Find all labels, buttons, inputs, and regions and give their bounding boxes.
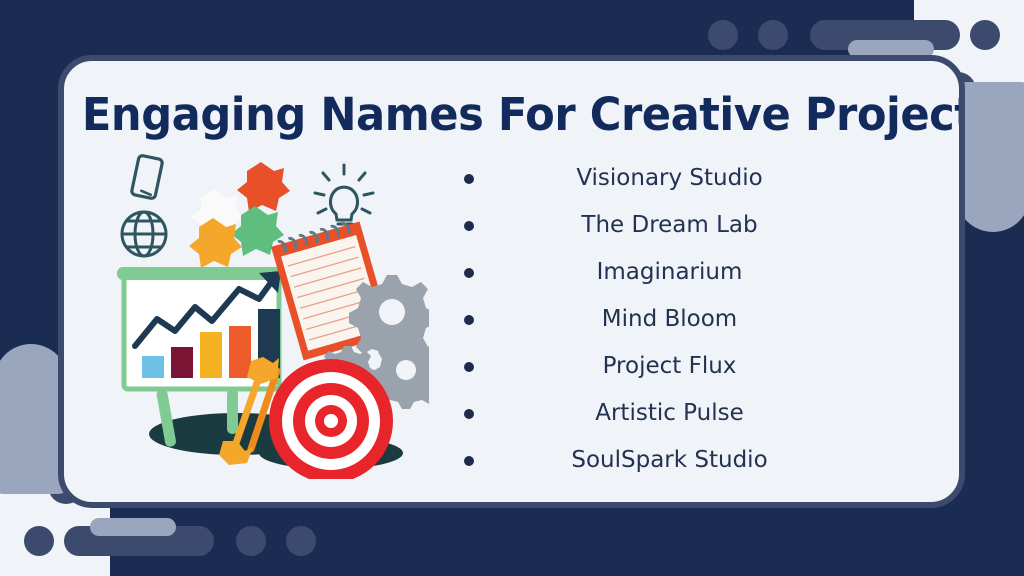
list-item[interactable]: The Dream Lab bbox=[464, 202, 935, 249]
decoration-tall-light-right bbox=[956, 82, 1024, 232]
puzzle-blob-yellow bbox=[189, 218, 242, 268]
smartphone-speaker bbox=[141, 191, 151, 195]
list-item[interactable]: Artistic Pulse bbox=[464, 390, 935, 437]
bullet-icon bbox=[464, 409, 474, 419]
list-item[interactable]: Visionary Studio bbox=[464, 155, 935, 202]
decoration-pill-light-bottom-left bbox=[90, 518, 176, 536]
list-item-label: Mind Bloom bbox=[602, 306, 737, 332]
globe-icon bbox=[122, 212, 166, 256]
target-bullseye-icon bbox=[269, 359, 393, 479]
decoration-dot-bottom-left-3 bbox=[286, 526, 316, 556]
decoration-dot-bottom-left-2 bbox=[236, 526, 266, 556]
card-body: Visionary Studio The Dream Lab Imaginari… bbox=[64, 141, 959, 508]
gear-icon-large bbox=[349, 275, 429, 361]
list-item[interactable]: SoulSpark Studio bbox=[464, 437, 935, 484]
bullet-icon bbox=[464, 315, 474, 325]
creative-project-illustration bbox=[99, 149, 429, 479]
page-title: Engaging Names For Creative Projects bbox=[82, 61, 941, 141]
decoration-dot-top-right-3 bbox=[708, 20, 738, 50]
list-item[interactable]: Project Flux bbox=[464, 343, 935, 390]
list-item-label: SoulSpark Studio bbox=[571, 447, 767, 473]
decoration-dot-top-right-1 bbox=[970, 20, 1000, 50]
bullet-icon bbox=[464, 221, 474, 231]
slide-canvas: Engaging Names For Creative Projects bbox=[0, 0, 1024, 576]
names-list-container: Visionary Studio The Dream Lab Imaginari… bbox=[464, 141, 959, 484]
lightbulb-icon bbox=[315, 165, 373, 229]
list-item-label: Visionary Studio bbox=[576, 165, 762, 191]
illustration-container bbox=[64, 141, 464, 479]
decoration-dot-bottom-left-1 bbox=[24, 526, 54, 556]
decoration-dot-top-right-2 bbox=[758, 20, 788, 50]
puzzle-blob-red bbox=[237, 162, 290, 212]
list-item[interactable]: Imaginarium bbox=[464, 249, 935, 296]
bullet-icon bbox=[464, 456, 474, 466]
list-item-label: Imaginarium bbox=[597, 259, 743, 285]
list-item-label: Artistic Pulse bbox=[595, 400, 744, 426]
list-item-label: The Dream Lab bbox=[581, 212, 757, 238]
list-item[interactable]: Mind Bloom bbox=[464, 296, 935, 343]
bullet-icon bbox=[464, 268, 474, 278]
list-item-label: Project Flux bbox=[603, 353, 737, 379]
content-card: Engaging Names For Creative Projects bbox=[58, 55, 965, 508]
names-list: Visionary Studio The Dream Lab Imaginari… bbox=[464, 155, 935, 484]
bullet-icon bbox=[464, 174, 474, 184]
bullet-icon bbox=[464, 362, 474, 372]
